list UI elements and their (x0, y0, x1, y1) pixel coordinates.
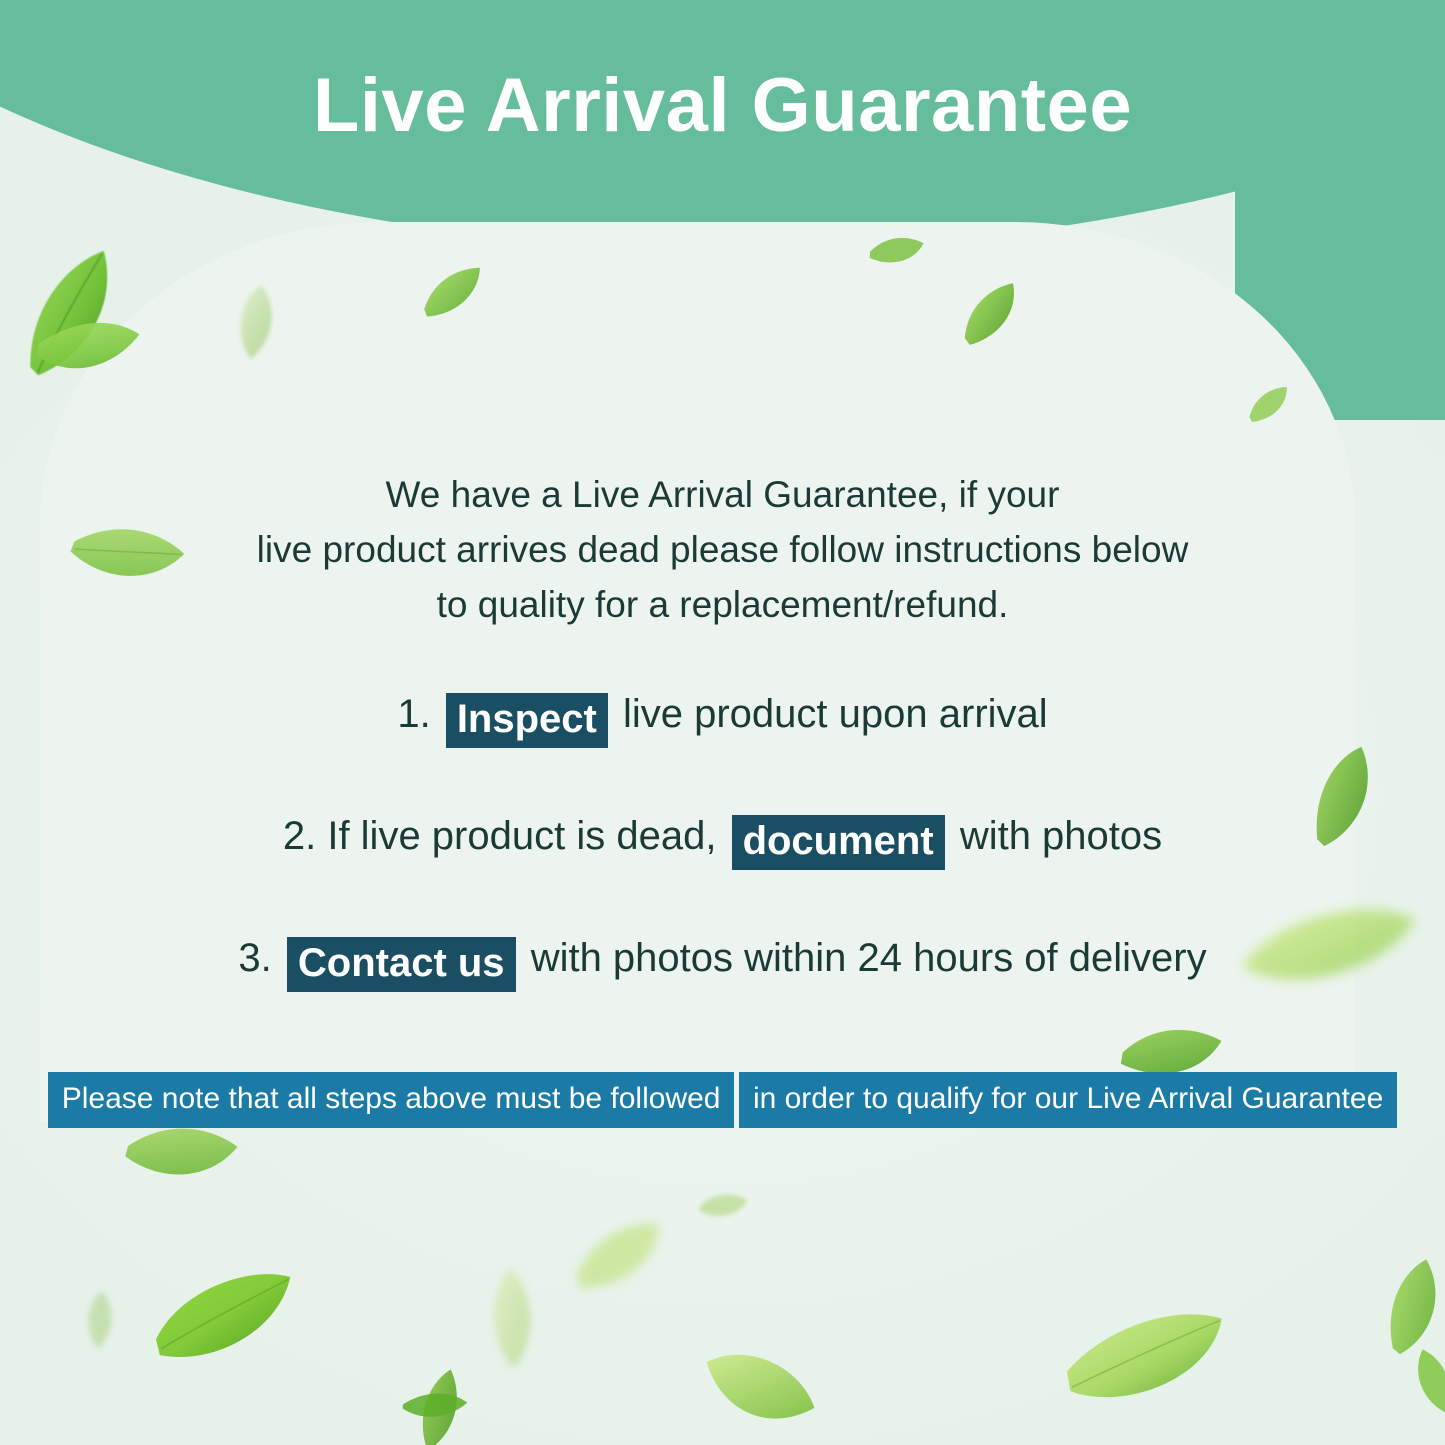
content-panel-background (40, 222, 1355, 1122)
step-item-2: 2. If live product is dead, document wit… (0, 810, 1445, 865)
intro-line-2: live product arrives dead please follow … (0, 523, 1445, 578)
step-highlight-contact-us: Contact us (287, 937, 516, 992)
notice-banner-line-1: Please note that all steps above must be… (48, 1072, 735, 1128)
step-text-before: If live product is dead, (327, 814, 716, 858)
intro-line-3: to quality for a replacement/refund. (0, 578, 1445, 633)
step-text-after: with photos within 24 hours of delivery (531, 936, 1207, 980)
page-title: Live Arrival Guarantee (0, 68, 1445, 144)
step-number: 2. (283, 814, 316, 858)
steps-list: 1. Inspect live product upon arrival 2. … (0, 688, 1445, 987)
step-item-3: 3. Contact us with photos within 24 hour… (0, 932, 1445, 987)
step-text-after: with photos (960, 814, 1162, 858)
live-arrival-guarantee-graphic: Live Arrival Guarantee We have a Live Ar… (0, 0, 1445, 1445)
notice-banners: Please note that all steps above must be… (0, 1072, 1445, 1137)
step-text-after: live product upon arrival (623, 692, 1048, 736)
intro-paragraph: We have a Live Arrival Guarantee, if you… (0, 468, 1445, 632)
step-highlight-inspect: Inspect (446, 693, 608, 748)
step-highlight-document: document (732, 815, 945, 870)
notice-banner-line-2: in order to qualify for our Live Arrival… (739, 1072, 1397, 1128)
step-number: 3. (238, 936, 271, 980)
step-item-1: 1. Inspect live product upon arrival (0, 688, 1445, 743)
step-number: 1. (397, 692, 430, 736)
intro-line-1: We have a Live Arrival Guarantee, if you… (0, 468, 1445, 523)
